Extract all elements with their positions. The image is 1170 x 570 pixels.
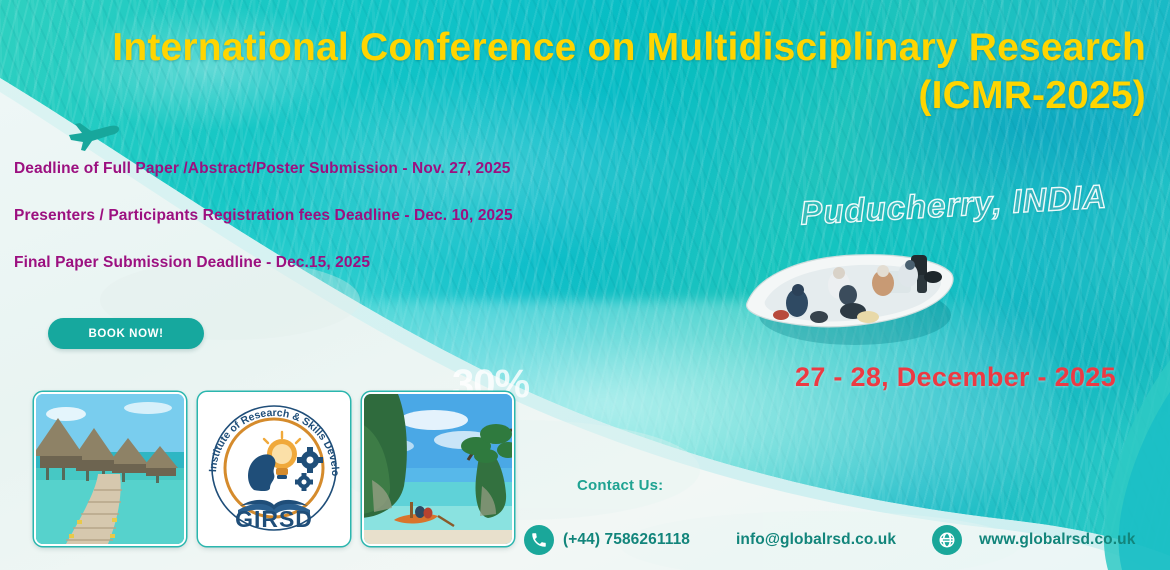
conference-banner: 30% OFF International Conference on Mult… [0, 0, 1170, 570]
contact-email[interactable]: info@globalrsd.co.uk [736, 531, 896, 549]
logo-acronym: GIRSD [235, 506, 313, 532]
airplane-icon [66, 112, 122, 152]
deadline-list: Deadline of Full Paper /Abstract/Poster … [14, 160, 634, 301]
deadline-item: Deadline of Full Paper /Abstract/Poster … [14, 160, 634, 178]
globe-icon[interactable] [932, 525, 962, 555]
phone-icon[interactable] [524, 525, 554, 555]
conference-title: International Conference on Multidiscipl… [46, 24, 1146, 120]
title-line-1: International Conference on Multidiscipl… [46, 24, 1146, 72]
contact-row: (+44) 7586261118 info@globalrsd.co.uk ww… [524, 524, 1135, 556]
photo-tropical-bay[interactable] [362, 392, 514, 546]
motorboat-illustration [735, 243, 965, 348]
contact-us-label: Contact Us: [577, 477, 663, 494]
book-now-button[interactable]: BOOK NOW! [48, 318, 204, 349]
contact-website[interactable]: www.globalrsd.co.uk [979, 531, 1135, 549]
deadline-item: Presenters / Participants Registration f… [14, 207, 634, 225]
girsd-logo[interactable]: Global Institute of Research & Skills De… [198, 392, 350, 546]
title-line-2: (ICMR-2025) [46, 72, 1146, 120]
photo-overwater-bungalows[interactable] [34, 392, 186, 546]
contact-phone[interactable]: (+44) 7586261118 [563, 531, 690, 549]
conference-date: 27 - 28, December - 2025 [795, 362, 1116, 393]
deadline-item: Final Paper Submission Deadline - Dec.15… [14, 254, 634, 272]
